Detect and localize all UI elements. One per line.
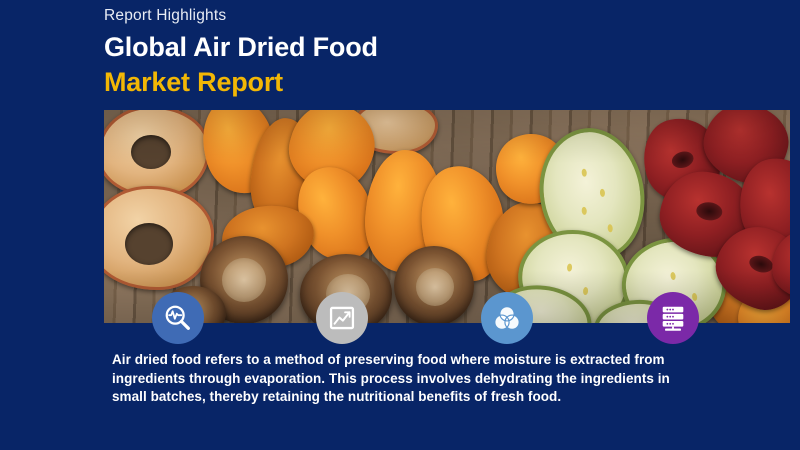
market-research-icon[interactable]	[152, 292, 204, 344]
page-subtitle: Market Report	[104, 65, 794, 99]
venn-diagram-glyph	[492, 303, 522, 333]
data-sources-icon[interactable]	[647, 292, 699, 344]
database-stack-glyph	[658, 303, 688, 333]
trend-chart-frame-glyph	[328, 304, 356, 332]
report-highlight-slide: { "theme": { "background": "#082567", "a…	[0, 0, 800, 450]
segmentation-icon[interactable]	[481, 292, 533, 344]
highlight-icon-row	[104, 292, 790, 346]
page-title: Global Air Dried Food	[104, 30, 794, 64]
magnifier-with-pulse-glyph	[163, 303, 193, 333]
header-block: Report Highlights Global Air Dried Food …	[104, 6, 794, 99]
description-paragraph: Air dried food refers to a method of pre…	[112, 351, 690, 407]
eyebrow-label: Report Highlights	[104, 6, 794, 26]
market-trends-icon[interactable]	[316, 292, 368, 344]
